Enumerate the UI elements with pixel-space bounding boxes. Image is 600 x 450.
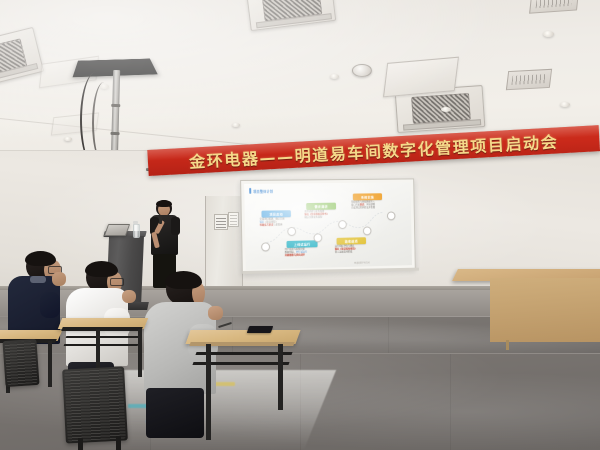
recessed-spotlight-icon	[441, 107, 451, 112]
slide-footer: 明道易数字化车间	[354, 261, 370, 264]
attendee-2-glasses	[110, 278, 124, 286]
bottle-cap	[133, 221, 138, 224]
laptop[interactable]	[104, 224, 130, 236]
meeting-room-photo: 金环电器——明道易车间数字化管理项目启动会 项目整体计划 项目启动 完成项目组建…	[0, 0, 600, 450]
desk-rail	[64, 344, 139, 346]
roadmap-node-2: 需求调研	[306, 203, 336, 210]
roadmap-node-5: 验收结项	[337, 237, 366, 244]
roadmap-node-1: 项目启动	[261, 210, 290, 217]
recessed-spotlight-icon	[100, 84, 109, 89]
attendee-1-arm	[40, 292, 60, 318]
chair-back[interactable]	[62, 366, 128, 443]
side-table-panel	[490, 278, 600, 342]
ceiling-access-panel	[39, 56, 99, 89]
desk-rail	[66, 336, 141, 338]
attendee-1-hands	[52, 272, 66, 286]
water-bottle[interactable]	[133, 224, 140, 238]
ceiling-access-panel	[383, 57, 459, 98]
attendee-1-collar	[30, 276, 46, 283]
recessed-spotlight-icon	[232, 123, 240, 127]
roadmap-node-5-body: 运行指标评估与确认输出《项目验收报告》转入运维支持阶段	[335, 245, 357, 254]
recessed-spotlight-icon	[543, 31, 554, 37]
desk-leg	[206, 344, 211, 440]
milestone-dot	[387, 211, 396, 220]
roadmap-node-4: 上线试运行	[287, 240, 318, 247]
chair-leg	[78, 438, 83, 450]
chair-back[interactable]	[2, 339, 39, 387]
desk-leg	[138, 329, 142, 377]
door-sign	[214, 214, 228, 230]
door-sign	[228, 212, 239, 227]
supply-air-vent	[529, 0, 579, 14]
ac-cassette-unit	[395, 85, 486, 133]
desk-leg	[48, 341, 52, 387]
slide-floor-reflection-accent	[213, 382, 235, 386]
presenter-sleeve	[171, 217, 180, 235]
ac-cassette-unit	[246, 0, 336, 31]
attendee-2-hands	[122, 290, 136, 303]
smoke-detector-icon	[352, 64, 372, 77]
roadmap-node-3: 系统实施	[353, 193, 382, 200]
attendee-3-hair	[165, 271, 202, 289]
desk-apron	[61, 327, 143, 331]
projection-screen: 项目整体计划 项目启动 完成项目组建、确认范围输出《项目章程》明确各方职责与里程…	[240, 178, 416, 274]
side-table-leg	[506, 340, 509, 350]
projector-drop-pole	[111, 70, 120, 162]
microphone[interactable]	[159, 216, 162, 224]
desk-leg	[278, 344, 283, 410]
slide-content: 项目整体计划 项目启动 完成项目组建、确认范围输出《项目章程》明确各方职责与里程…	[244, 182, 412, 270]
attendee-1-hair	[25, 251, 56, 266]
presenter-hair	[156, 200, 172, 207]
attendee-3-hands	[208, 306, 223, 320]
ac-cassette-unit	[0, 27, 44, 95]
roadmap-node-2-body: 现场调研与业务梳理输出《需求规格说明书》确认关键业务流程	[304, 211, 328, 220]
chair-leg	[116, 436, 121, 450]
recessed-spotlight-icon	[560, 102, 570, 107]
smartphone[interactable]	[247, 326, 274, 333]
attendee-2-hair	[85, 261, 118, 277]
roadmap-node-4-body: 用户培训与权限分配数据割接、并行试运行问题跟踪与优化闭环	[285, 248, 307, 257]
attendee-3-trousers	[146, 388, 204, 438]
supply-air-vent	[506, 69, 552, 90]
roadmap-node-1-body: 完成项目组建、确认范围输出《项目章程》明确各方职责与里程碑	[260, 218, 285, 227]
projector-mount-plate	[73, 59, 158, 78]
recessed-spotlight-icon	[64, 137, 72, 141]
ceiling-access-panel	[51, 112, 99, 135]
room-door[interactable]	[205, 196, 243, 288]
recessed-spotlight-icon	[330, 74, 339, 79]
roadmap-node-3-body: 系统配置与基础数据导入接口开发联调、环境部署完成测试用例验证并签署	[351, 201, 375, 210]
